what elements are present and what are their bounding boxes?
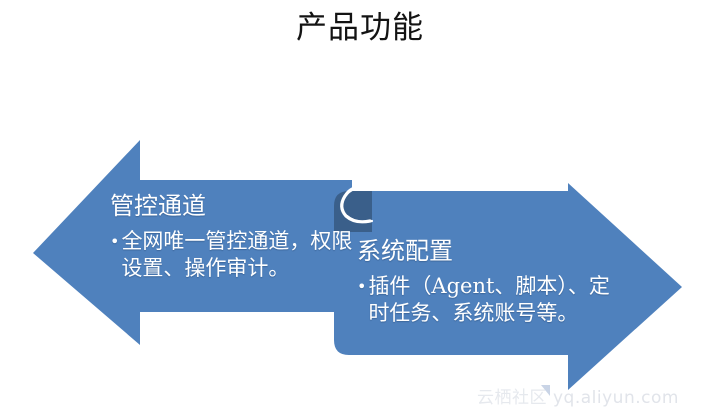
right-arrow-heading: 系统配置 [357, 236, 617, 266]
left-arrow-heading: 管控通道 [110, 191, 355, 221]
left-arrow-text-block: 管控通道 • 全网唯一管控通道，权限设置、操作审计。 [110, 191, 355, 282]
bullet-marker-icon: • [357, 273, 368, 327]
slide-canvas: 产品功能 管控通道 • 全网唯一管控通道，权 [0, 0, 720, 418]
watermark-brand: 云栖社区 [477, 387, 547, 409]
right-arrow-bullet: • 插件（Agent、脚本）、定时任务、系统账号等。 [357, 273, 617, 327]
right-arrow-bullet-text: 插件（Agent、脚本）、定时任务、系统账号等。 [368, 273, 617, 327]
bullet-marker-icon: • [110, 228, 121, 282]
process-diagram [0, 0, 720, 418]
right-arrow-text-block: 系统配置 • 插件（Agent、脚本）、定时任务、系统账号等。 [357, 236, 617, 327]
watermark: 云栖社区 yq.aliyun.com [477, 387, 679, 409]
left-arrow-bullet: • 全网唯一管控通道，权限设置、操作审计。 [110, 228, 355, 282]
watermark-url: yq.aliyun.com [553, 387, 679, 409]
left-arrow-bullet-text: 全网唯一管控通道，权限设置、操作审计。 [121, 228, 355, 282]
watermark-logo-icon [541, 385, 550, 396]
